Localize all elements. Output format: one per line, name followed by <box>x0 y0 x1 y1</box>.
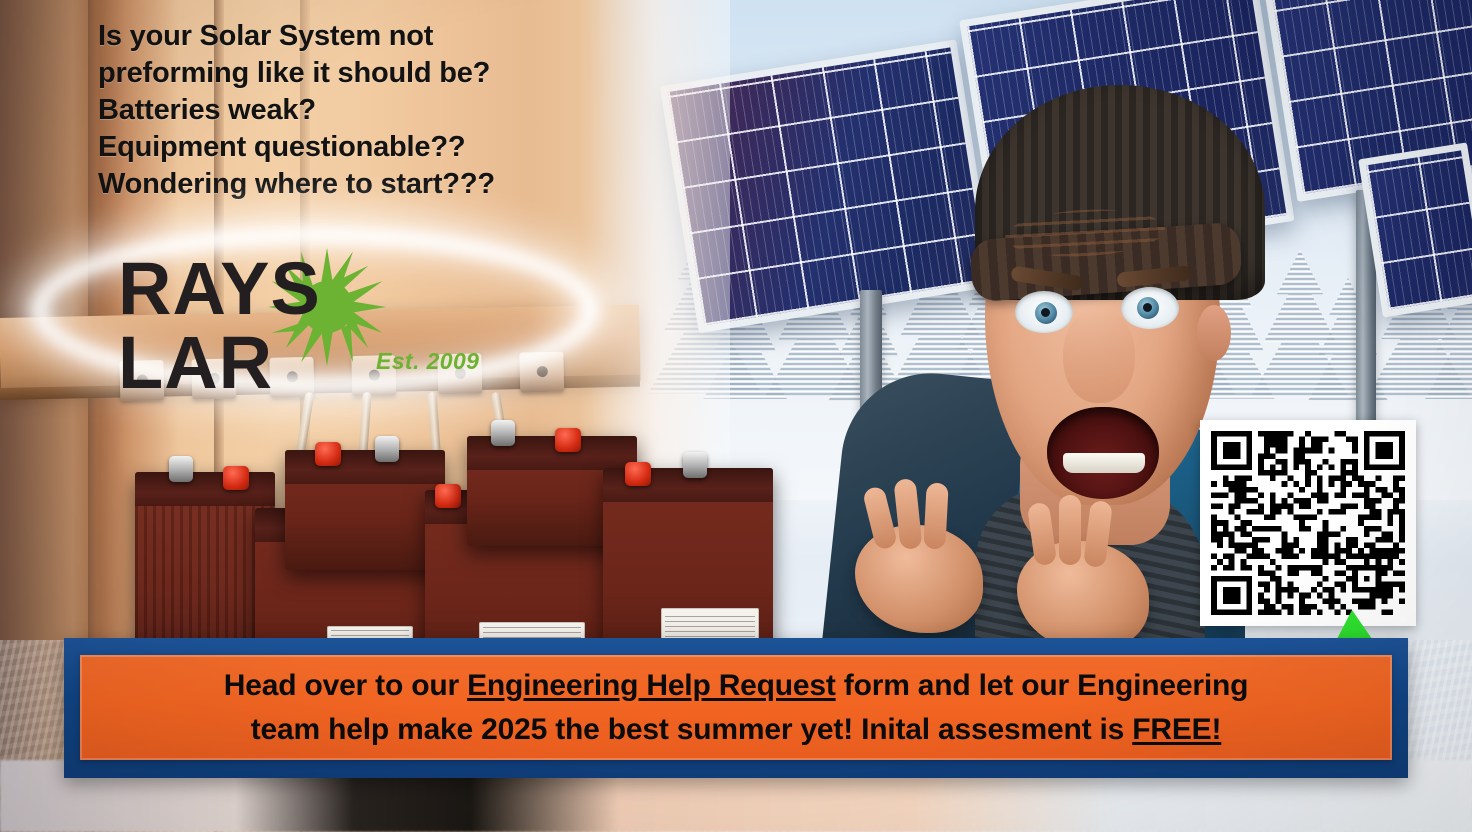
ear <box>1197 305 1231 361</box>
distressed-man <box>835 55 1255 675</box>
battery-post <box>491 420 515 446</box>
advertisement-poster: Is your Solar System not preforming like… <box>0 0 1472 832</box>
battery-post <box>375 436 399 462</box>
logo-wordmark: RAYSLAR <box>118 252 498 400</box>
cta-line-1: Head over to our Engineering Help Reques… <box>224 664 1248 708</box>
cta-line2-pre: team help make 2025 the best summer yet!… <box>251 713 1133 746</box>
battery-cap <box>435 484 461 508</box>
eye-left <box>1015 291 1073 333</box>
raysolar-logo: RAYSLAR Est. 2009 <box>30 222 600 412</box>
battery-top <box>285 450 445 484</box>
headline-line-4: Equipment questionable?? <box>98 129 658 166</box>
cta-line1-pre: Head over to our <box>224 669 467 702</box>
battery-top <box>135 472 275 506</box>
free-emphasis: FREE! <box>1132 713 1221 746</box>
solar-panel-face <box>1366 150 1472 309</box>
teeth <box>1063 453 1145 473</box>
finger <box>923 482 948 549</box>
headline-text: Is your Solar System not preforming like… <box>98 18 658 204</box>
battery-cap <box>223 466 249 490</box>
battery-cap <box>625 462 651 486</box>
qr-code[interactable] <box>1200 420 1416 626</box>
battery-post <box>169 456 193 482</box>
logo-word-before: RAYS <box>118 247 321 330</box>
iris-left <box>1035 302 1057 324</box>
cta-line1-post: form and let our Engineering <box>836 669 1249 702</box>
logo-word-after: LAR <box>118 321 273 404</box>
cta-line-2: team help make 2025 the best summer yet!… <box>251 708 1222 752</box>
battery-post <box>683 452 707 478</box>
iris-right <box>1137 297 1159 319</box>
headline-line-3: Batteries weak? <box>98 92 658 129</box>
engineering-help-request-link[interactable]: Engineering Help Request <box>467 669 836 702</box>
cta-banner-panel: Head over to our Engineering Help Reques… <box>80 655 1392 760</box>
cta-banner: Head over to our Engineering Help Reques… <box>64 638 1408 778</box>
headline-line-1: Is your Solar System not <box>98 18 658 55</box>
logo-lockup: RAYSLAR Est. 2009 <box>118 252 498 367</box>
qr-code-modules <box>1211 431 1405 615</box>
battery-cap <box>555 428 581 452</box>
logo-tagline: Est. 2009 <box>376 348 479 375</box>
finger <box>1059 495 1081 565</box>
headline-line-2: preforming like it should be? <box>98 55 658 92</box>
battery-cap <box>315 442 341 466</box>
headline-line-5: Wondering where to start??? <box>98 166 658 203</box>
eye-right <box>1121 287 1179 329</box>
nose <box>1063 307 1135 403</box>
battery <box>285 450 445 570</box>
